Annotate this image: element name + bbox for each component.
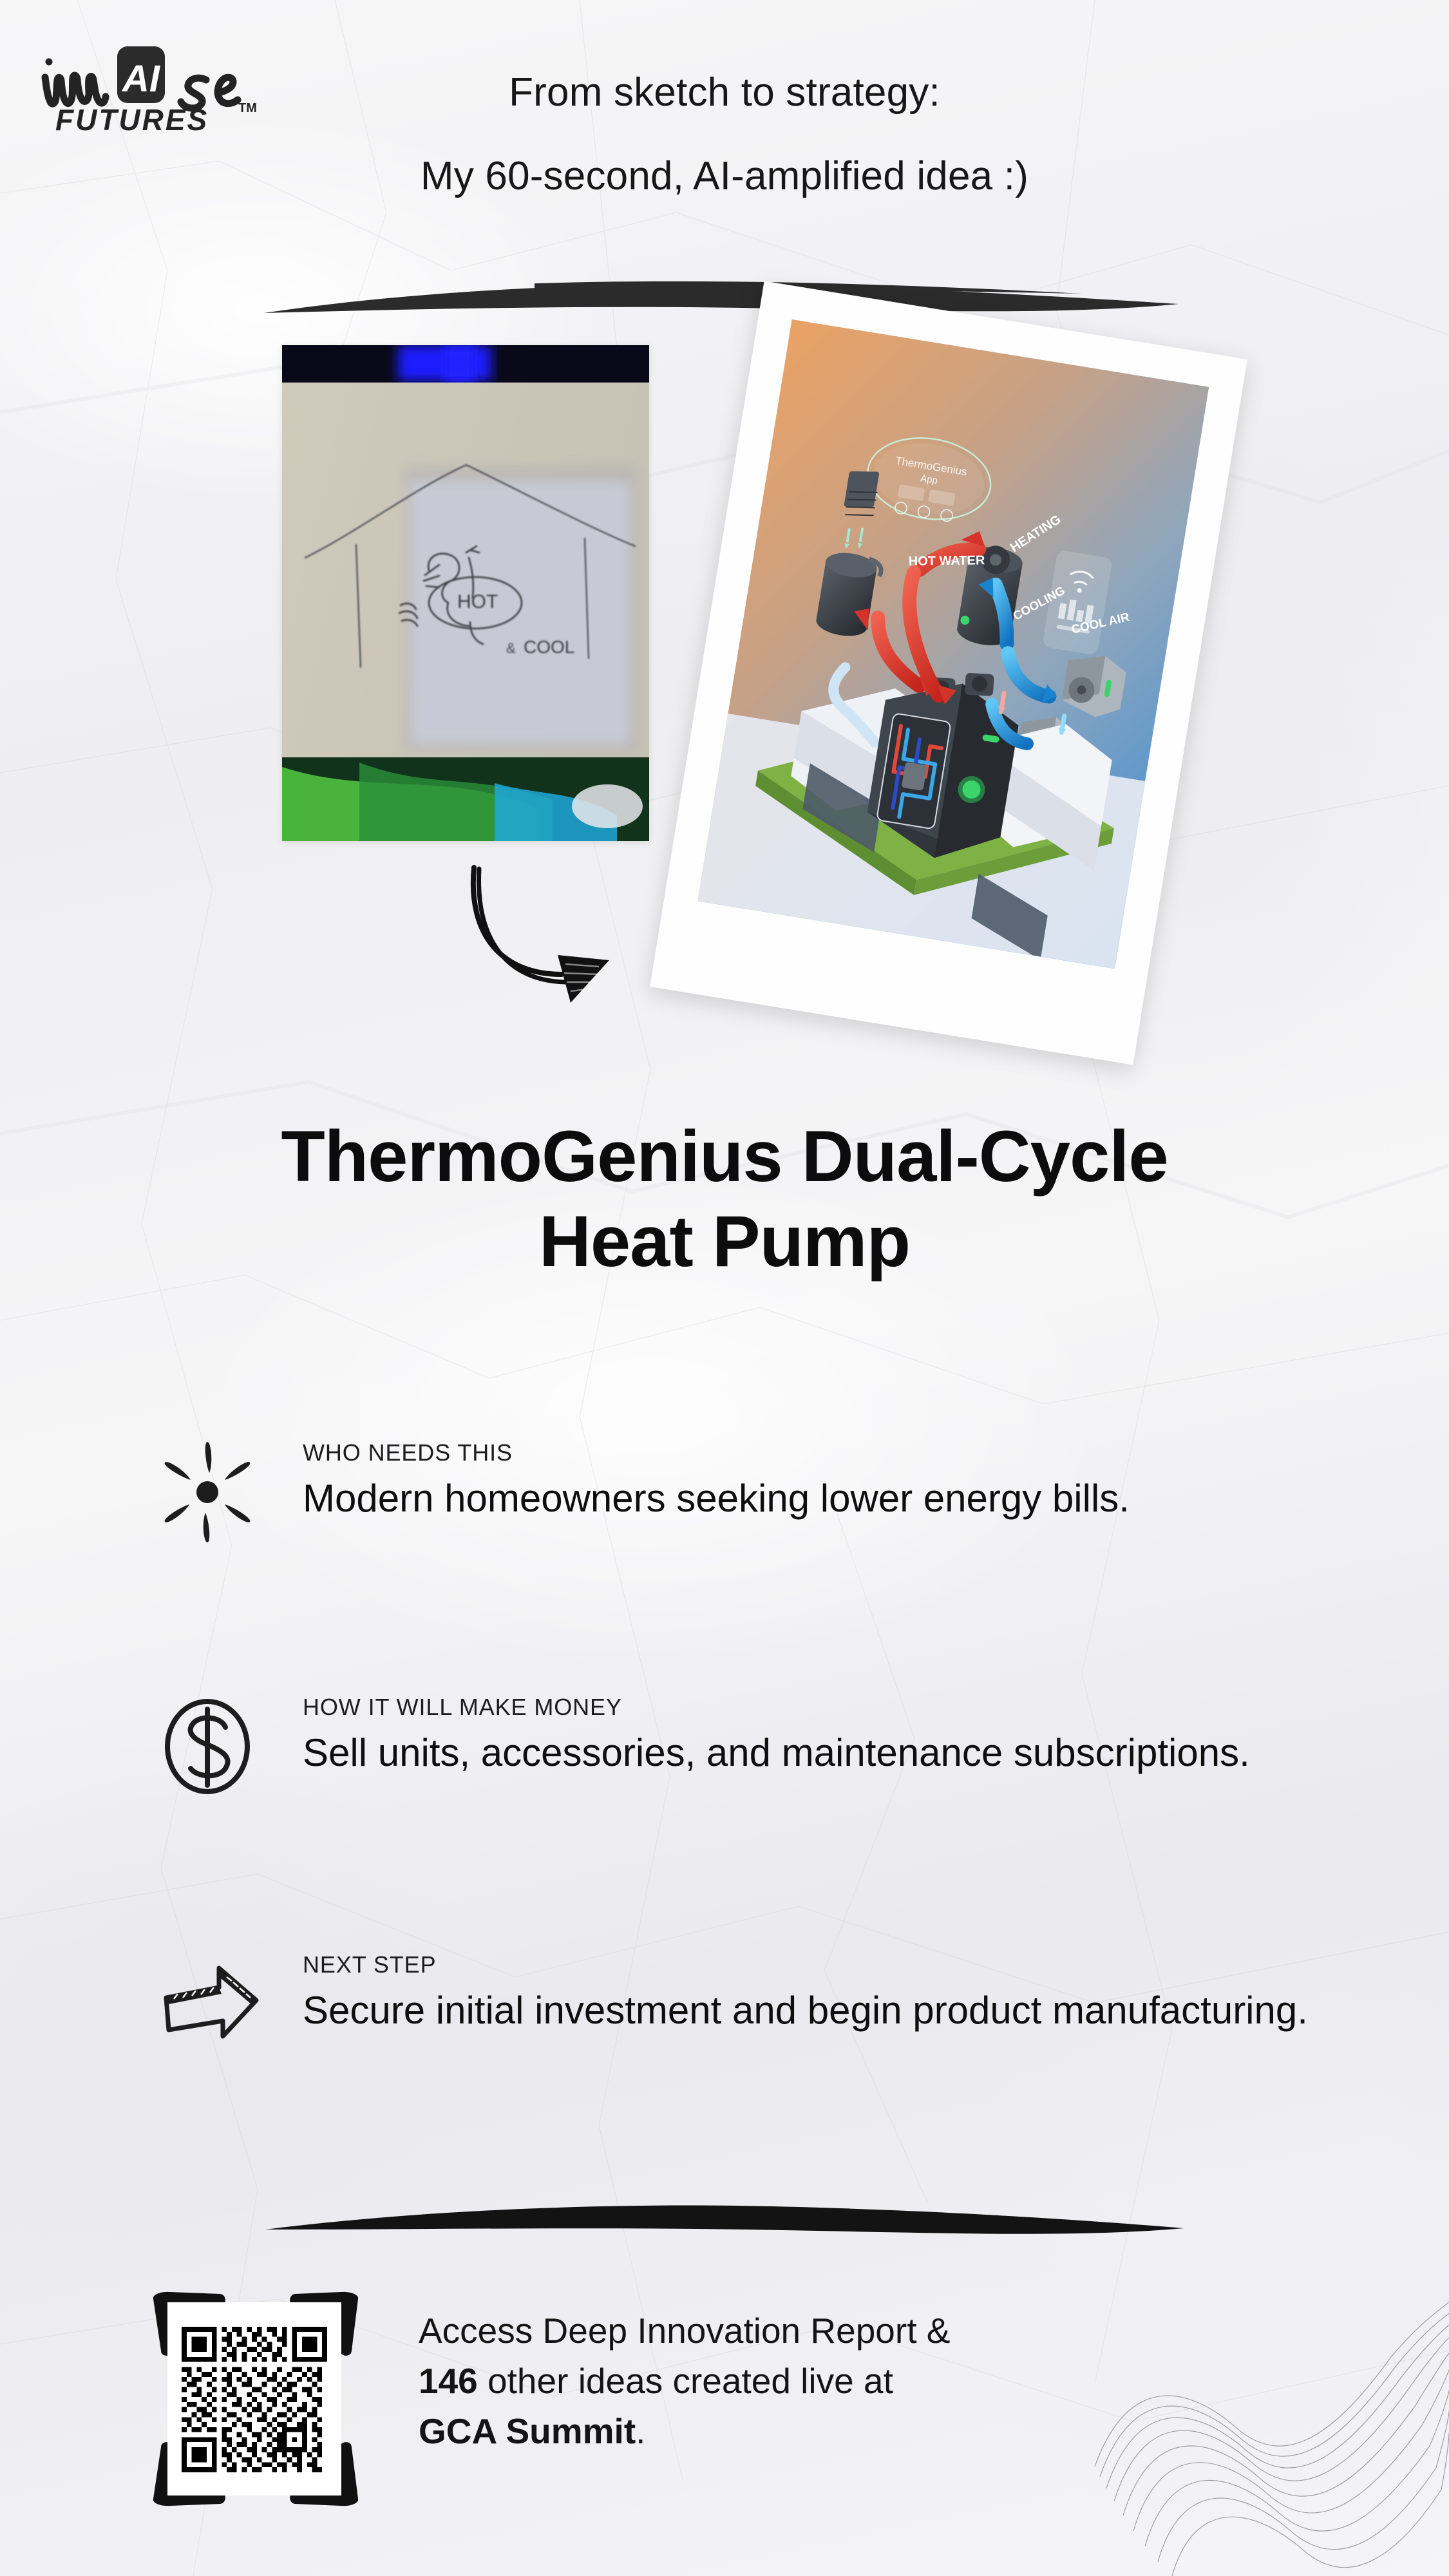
qr-code[interactable] xyxy=(182,2317,327,2482)
qr-block[interactable] xyxy=(143,2280,368,2518)
footer-event-name[interactable]: GCA Summit xyxy=(419,2411,636,2451)
sketch-photo[interactable]: HOT COOL & xyxy=(282,345,649,841)
info-text-how-it-will-make-money: HOW IT WILL MAKE MONEY Sell units, acces… xyxy=(303,1694,1346,1778)
sketch-amp: & xyxy=(506,640,516,656)
arrow-right-block-icon xyxy=(155,1951,261,2058)
info-text-next-step: NEXT STEP Secure initial investment and … xyxy=(303,1951,1346,2036)
sketch-label-cool: COOL xyxy=(524,637,574,657)
info-body-0: Modern homeowners seeking lower energy b… xyxy=(303,1473,1346,1524)
header-line-1: From sketch to strategy: xyxy=(0,70,1449,115)
dollar-circle-icon xyxy=(155,1694,261,1800)
info-label-0: WHO NEEDS THIS xyxy=(303,1439,1346,1466)
divider-brush-bottom xyxy=(258,2190,1191,2248)
info-text-who-needs-this: WHO NEEDS THIS Modern homeowners seeking… xyxy=(303,1439,1346,1524)
sketch-photo-content: HOT COOL & xyxy=(282,345,649,841)
render-photo-content: ThermoGenius App xyxy=(697,319,1209,969)
sketch-to-render-arrow-icon xyxy=(444,840,657,1046)
info-body-2: Secure initial investment and begin prod… xyxy=(303,1985,1346,2036)
divider-brush-top xyxy=(258,263,1185,325)
info-label-1: HOW IT WILL MAKE MONEY xyxy=(303,1694,1346,1721)
info-label-2: NEXT STEP xyxy=(303,1951,1346,1978)
page-title-line-2: Heat Pump xyxy=(0,1199,1449,1284)
footer-line-2-rest: other ideas created live at xyxy=(478,2361,893,2401)
page-title: ThermoGenius Dual-Cycle Heat Pump xyxy=(0,1114,1449,1284)
info-body-1: Sell units, accessories, and maintenance… xyxy=(303,1727,1346,1778)
sun-burst-icon xyxy=(155,1439,261,1546)
footer-idea-count: 146 xyxy=(419,2361,478,2401)
footer-period: . xyxy=(636,2411,645,2451)
render-label-hot-water: HOT WATER xyxy=(909,553,985,569)
header-line-2: My 60-second, AI-amplified idea :) xyxy=(0,153,1449,199)
sketch-label-hot: HOT xyxy=(457,591,498,612)
wave-decoration xyxy=(1088,2273,1449,2576)
page-title-line-1: ThermoGenius Dual-Cycle xyxy=(0,1114,1449,1199)
